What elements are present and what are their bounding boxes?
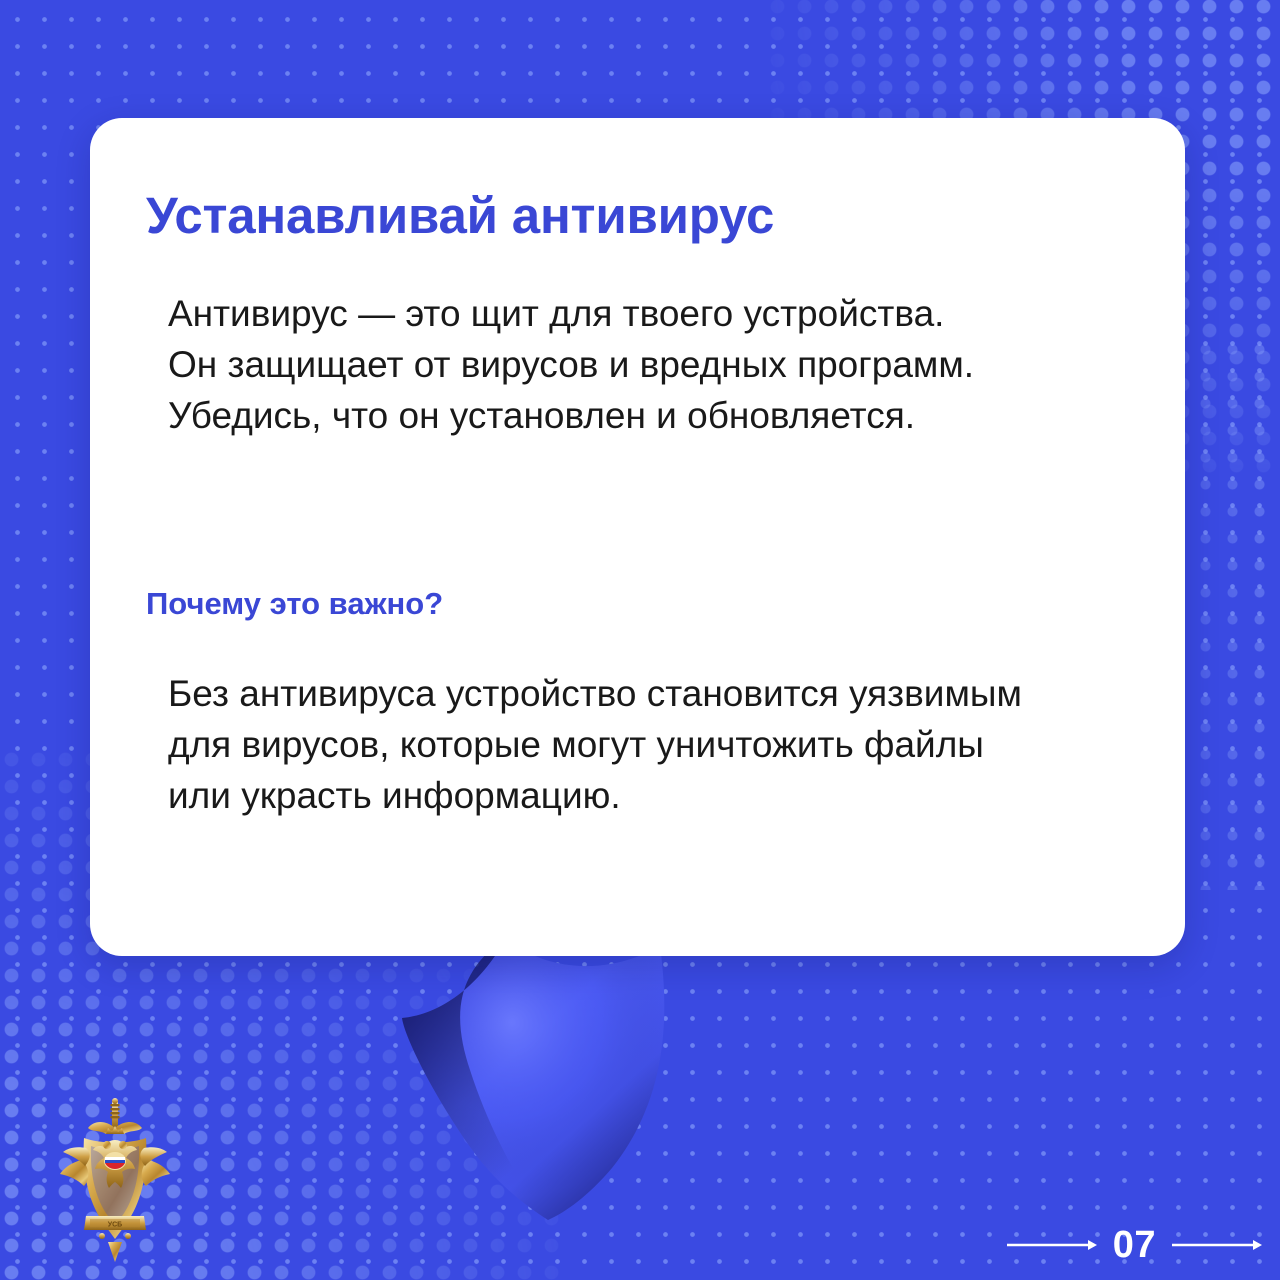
arrow-right-icon [1170, 1237, 1264, 1253]
pager: 07 [1005, 1226, 1264, 1264]
section-subheading: Почему это важно? [146, 586, 443, 622]
body-line: Антивирус — это щит для твоего устройств… [168, 288, 1158, 339]
body-paragraph: Антивирус — это щит для твоего устройств… [168, 288, 1158, 441]
reason-paragraph: Без антивируса устройство становится уяз… [168, 668, 1168, 821]
body-line: Он защищает от вирусов и вредных програм… [168, 339, 1158, 390]
shield-3d-icon [398, 930, 708, 1230]
content-card: Устанавливай антивирус Антивирус — это щ… [90, 118, 1185, 956]
fsb-emblem-icon: УСБ [60, 1098, 170, 1263]
page-number: 07 [1113, 1226, 1156, 1264]
reason-line: для вирусов, которые могут уничтожить фа… [168, 719, 1168, 770]
page-title: Устанавливай антивирус [146, 186, 774, 245]
reason-line: или украсть информацию. [168, 770, 1168, 821]
svg-text:УСБ: УСБ [108, 1222, 122, 1229]
arrow-right-icon [1005, 1237, 1099, 1253]
reason-line: Без антивируса устройство становится уяз… [168, 668, 1168, 719]
slide-root: Устанавливай антивирус Антивирус — это щ… [0, 0, 1280, 1280]
body-line: Убедись, что он установлен и обновляется… [168, 390, 1158, 441]
